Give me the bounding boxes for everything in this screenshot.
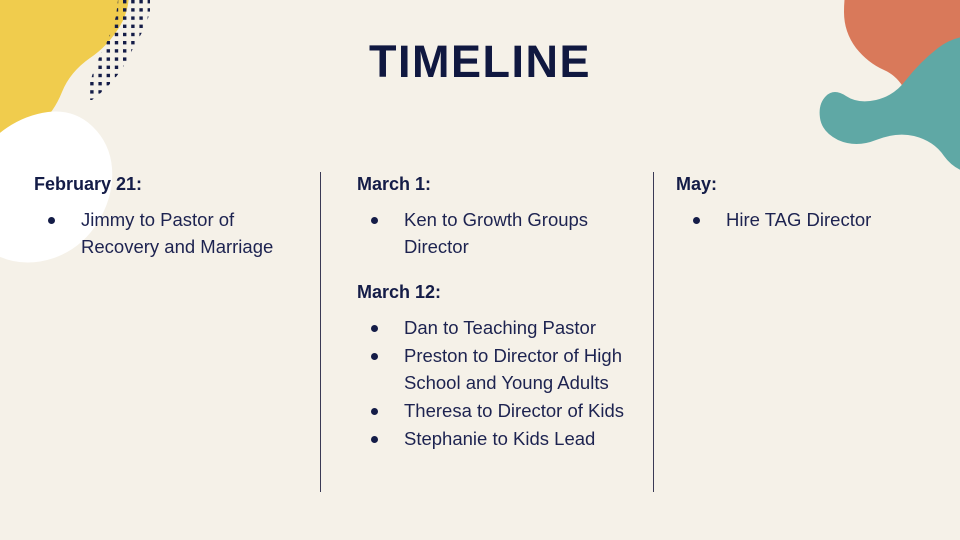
timeline-item-list: Dan to Teaching Pastor Preston to Direct… [357, 315, 639, 452]
timeline-group: March 12: Dan to Teaching Pastor Preston… [357, 280, 639, 453]
list-item: Stephanie to Kids Lead [357, 426, 639, 452]
timeline-date-heading: March 12: [357, 280, 639, 304]
timeline-item-list: Jimmy to Pastor of Recovery and Marriage [34, 207, 306, 260]
timeline-column-1: February 21: Jimmy to Pastor of Recovery… [0, 172, 320, 492]
list-item: Theresa to Director of Kids [357, 398, 639, 424]
list-item: Dan to Teaching Pastor [357, 315, 639, 341]
list-item: Jimmy to Pastor of Recovery and Marriage [34, 207, 306, 260]
list-item: Ken to Growth Groups Director [357, 207, 639, 260]
list-item: Preston to Director of High School and Y… [357, 343, 639, 396]
timeline-item-list: Ken to Growth Groups Director [357, 207, 639, 260]
timeline-column-3: May: Hire TAG Director [653, 172, 960, 492]
timeline-group: March 1: Ken to Growth Groups Director [357, 172, 639, 260]
timeline-date-heading: March 1: [357, 172, 639, 196]
timeline-item-list: Hire TAG Director [676, 207, 946, 233]
timeline-columns: February 21: Jimmy to Pastor of Recovery… [0, 172, 960, 492]
timeline-column-2: March 1: Ken to Growth Groups Director M… [320, 172, 653, 492]
list-item: Hire TAG Director [676, 207, 946, 233]
timeline-group: May: Hire TAG Director [676, 172, 946, 234]
slide-canvas: TIMELINE February 21: Jimmy to Pastor of… [0, 0, 960, 540]
timeline-date-heading: May: [676, 172, 946, 196]
page-title: TIMELINE [0, 36, 960, 88]
timeline-group: February 21: Jimmy to Pastor of Recovery… [34, 172, 306, 260]
timeline-date-heading: February 21: [34, 172, 306, 196]
